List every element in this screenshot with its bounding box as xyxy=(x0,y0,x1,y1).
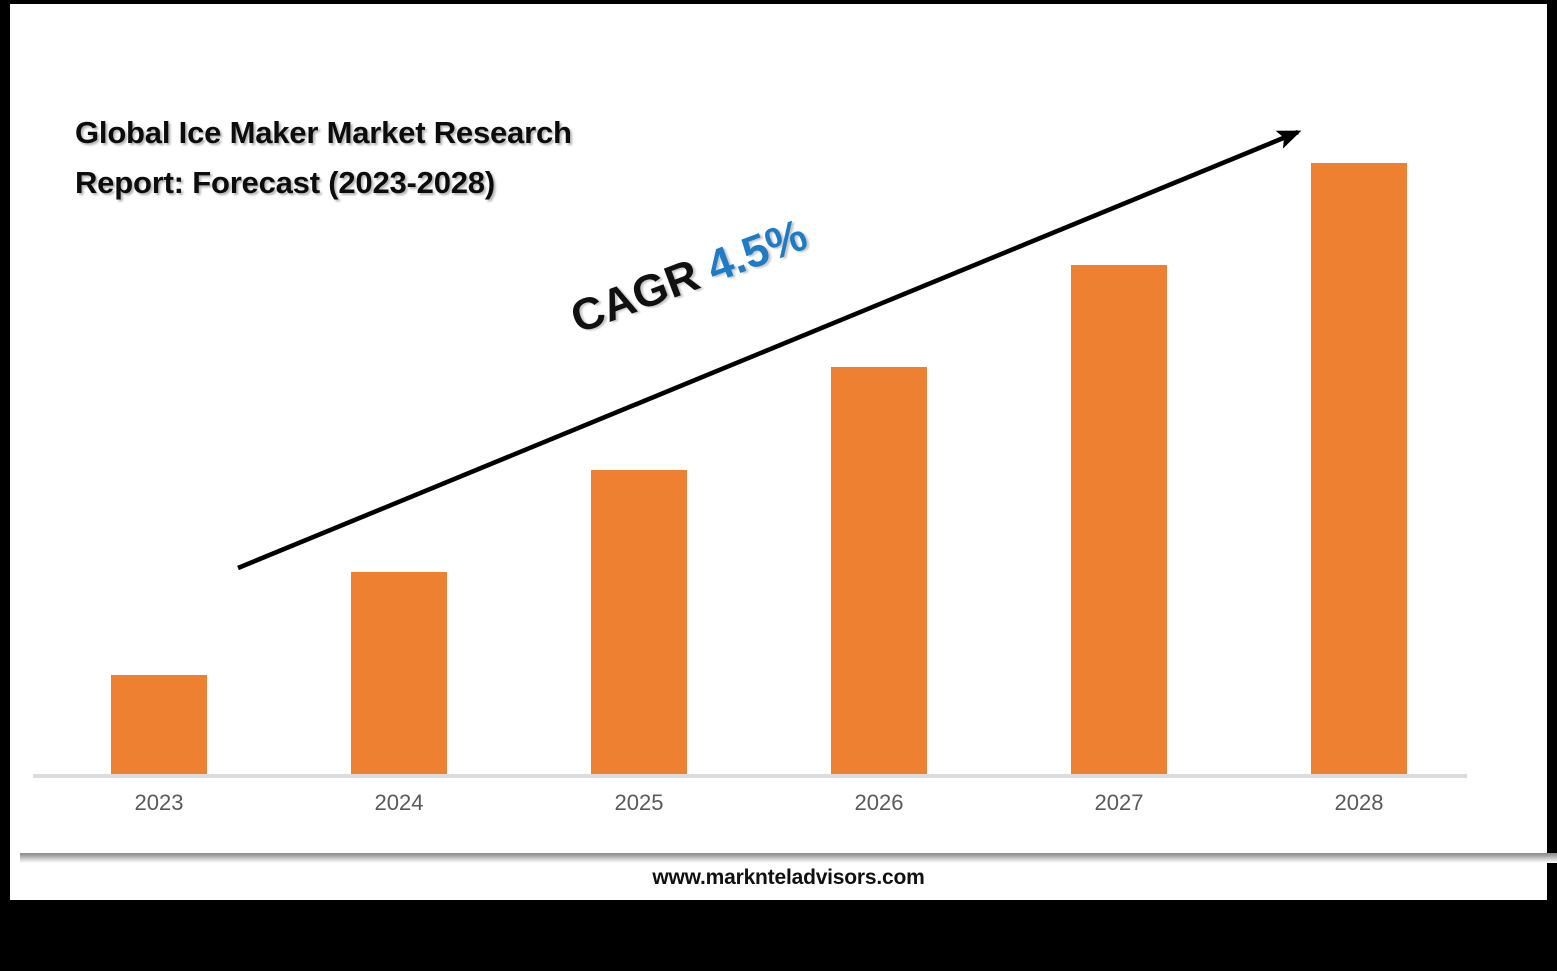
bar-2027 xyxy=(1071,265,1167,776)
bar-series xyxy=(10,4,1547,776)
bar-2025 xyxy=(591,470,687,776)
bar-chart: 202320242025202620272028 CAGR 4.5% xyxy=(10,4,1547,834)
bar-2024 xyxy=(351,572,447,776)
x-tick-label-2025: 2025 xyxy=(559,790,719,816)
footer-divider xyxy=(20,853,1557,863)
slide-canvas: Global Ice Maker Market Research Report:… xyxy=(10,4,1547,900)
x-axis-baseline xyxy=(33,774,1467,778)
x-tick-label-2023: 2023 xyxy=(79,790,239,816)
bar-2023 xyxy=(111,675,207,776)
x-tick-label-2027: 2027 xyxy=(1039,790,1199,816)
x-tick-label-2026: 2026 xyxy=(799,790,959,816)
x-tick-label-2024: 2024 xyxy=(319,790,479,816)
bar-2028 xyxy=(1311,163,1407,776)
x-tick-label-2028: 2028 xyxy=(1279,790,1439,816)
slide-frame: Global Ice Maker Market Research Report:… xyxy=(0,0,1557,971)
bar-2026 xyxy=(831,367,927,776)
footer-website: www.marknteladvisors.com xyxy=(20,866,1557,890)
